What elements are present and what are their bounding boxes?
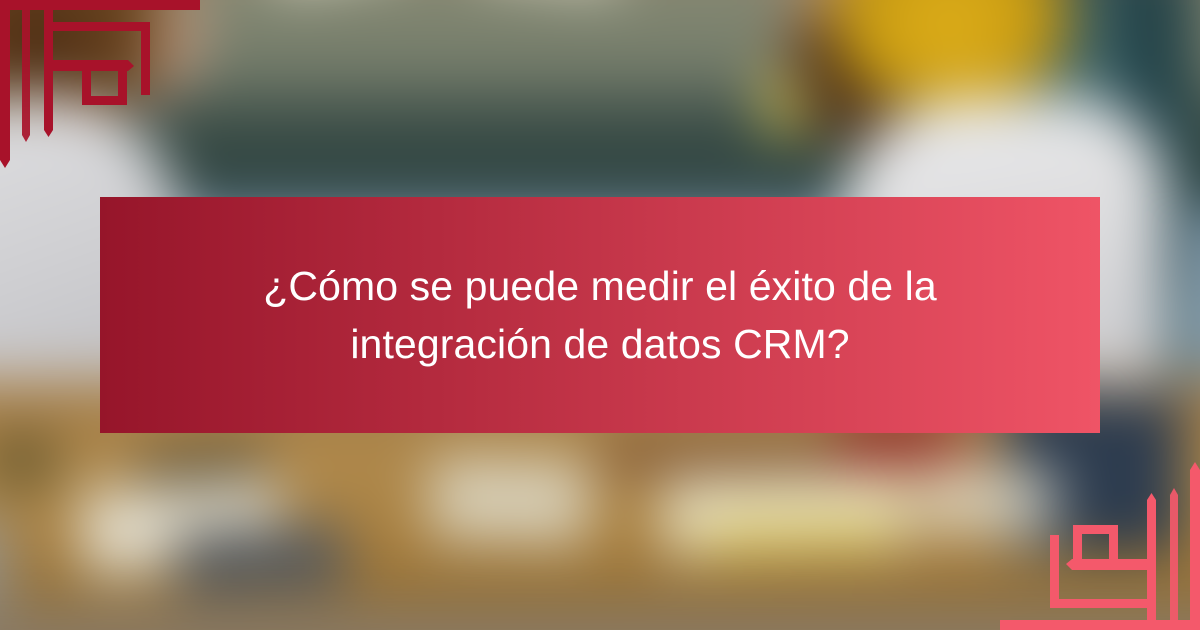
table-object-blue xyxy=(0,516,12,606)
corner-ornament-top-left xyxy=(0,0,200,200)
corner-bracket-icon xyxy=(0,0,200,168)
table-paper-2 xyxy=(429,455,591,545)
page-title: ¿Cómo se puede medir el éxito de la inte… xyxy=(100,257,1100,373)
corner-bracket-icon xyxy=(1000,462,1200,630)
corner-ornament-bottom-right xyxy=(1000,430,1200,630)
table-yellow-note xyxy=(700,513,892,557)
table-object-dark-2 xyxy=(600,440,855,472)
title-banner: ¿Cómo se puede medir el éxito de la inte… xyxy=(100,197,1100,433)
social-share-card: ¿Cómo se puede medir el éxito de la inte… xyxy=(0,0,1200,630)
table-keyboard xyxy=(174,523,347,598)
table-object-left xyxy=(0,437,59,485)
